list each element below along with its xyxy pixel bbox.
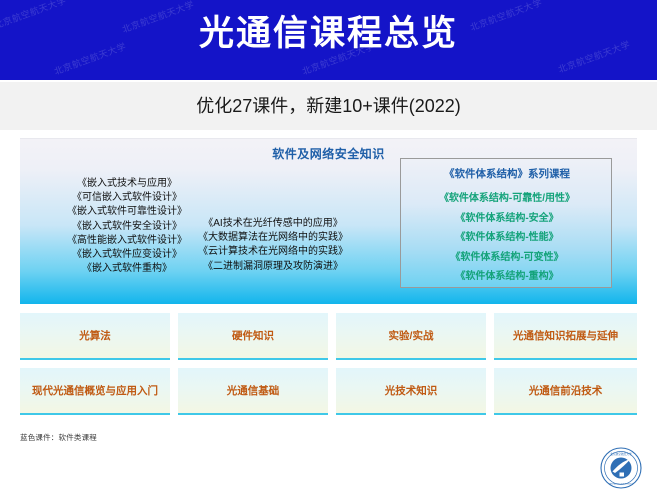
- list-item: 《AI技术在光纤传感中的应用》: [198, 217, 348, 231]
- list-item: 《软件体系结构-可靠性/用性》: [401, 189, 613, 209]
- arch-heading: 《软件体系结构》系列课程: [401, 166, 613, 181]
- list-item: 《软件体系结构-安全》: [401, 209, 613, 229]
- category-label: 硬件知识: [178, 313, 328, 360]
- svg-text:BEIHANG UNIVERSITY: BEIHANG UNIVERSITY: [609, 483, 633, 486]
- subtitle-band: 优化27课件，新建10+课件(2022): [0, 82, 657, 130]
- category-box-experiment-practice[interactable]: 实验/实战: [336, 313, 486, 360]
- category-label: 光通信基础: [178, 368, 328, 415]
- left-course-list: 《嵌入式技术与应用》 《可信嵌入式软件设计》 《嵌入式软件可靠性设计》 《嵌入式…: [52, 177, 202, 276]
- category-box-frontier-technology[interactable]: 光通信前沿技术: [494, 368, 637, 415]
- list-item: 《嵌入式软件可靠性设计》: [52, 205, 202, 219]
- list-item: 《嵌入式软件安全设计》: [52, 220, 202, 234]
- subtitle-text: 优化27课件，新建10+课件(2022): [0, 82, 657, 130]
- category-box-hardware-knowledge[interactable]: 硬件知识: [178, 313, 328, 360]
- category-label: 光通信知识拓展与延伸: [494, 313, 637, 360]
- list-item: 《软件体系结构-性能》: [401, 228, 613, 248]
- category-box-optical-fundamentals[interactable]: 光通信基础: [178, 368, 328, 415]
- title-divider: [0, 78, 657, 80]
- middle-course-list: 《AI技术在光纤传感中的应用》 《大数据算法在光网络中的实践》 《云计算技术在光…: [198, 217, 348, 274]
- svg-text:北京航空航天大学: 北京航空航天大学: [610, 452, 632, 456]
- category-label: 实验/实战: [336, 313, 486, 360]
- category-label: 光通信前沿技术: [494, 368, 637, 415]
- list-item: 《高性能嵌入式软件设计》: [52, 234, 202, 248]
- arch-course-list: 《软件体系结构-可靠性/用性》 《软件体系结构-安全》 《软件体系结构-性能》 …: [401, 189, 613, 287]
- list-item: 《嵌入式软件应变设计》: [52, 248, 202, 262]
- category-box-optical-algorithms[interactable]: 光算法: [20, 313, 170, 360]
- software-architecture-box: 《软件体系结构》系列课程 《软件体系结构-可靠性/用性》 《软件体系结构-安全》…: [400, 158, 612, 288]
- category-box-optical-technology[interactable]: 光技术知识: [336, 368, 486, 415]
- category-box-knowledge-extension[interactable]: 光通信知识拓展与延伸: [494, 313, 637, 360]
- list-item: 《软件体系结构-可变性》: [401, 248, 613, 268]
- legend-note: 蓝色课件：软件类课程: [20, 432, 97, 443]
- beihang-university-logo-icon: 北京航空航天大学 BEIHANG UNIVERSITY: [600, 447, 642, 489]
- list-item: 《嵌入式软件重构》: [52, 262, 202, 276]
- category-label: 现代光通信概览与应用入门: [20, 368, 170, 415]
- list-item: 《云计算技术在光网络中的实践》: [198, 245, 348, 259]
- category-label: 光技术知识: [336, 368, 486, 415]
- list-item: 《可信嵌入式软件设计》: [52, 191, 202, 205]
- list-item: 《二进制漏洞原理及攻防演进》: [198, 260, 348, 274]
- category-label: 光算法: [20, 313, 170, 360]
- title-band: 北京航空航天大学 北京航空航天大学 北京航空航天大学 北京航空航天大学 北京航空…: [0, 0, 657, 78]
- list-item: 《大数据算法在光网络中的实践》: [198, 231, 348, 245]
- page-title: 光通信课程总览: [0, 6, 657, 62]
- slide-root: 北京航空航天大学 北京航空航天大学 北京航空航天大学 北京航空航天大学 北京航空…: [0, 0, 657, 493]
- category-box-modern-optical-intro[interactable]: 现代光通信概览与应用入门: [20, 368, 170, 415]
- list-item: 《软件体系结构-重构》: [401, 267, 613, 287]
- list-item: 《嵌入式技术与应用》: [52, 177, 202, 191]
